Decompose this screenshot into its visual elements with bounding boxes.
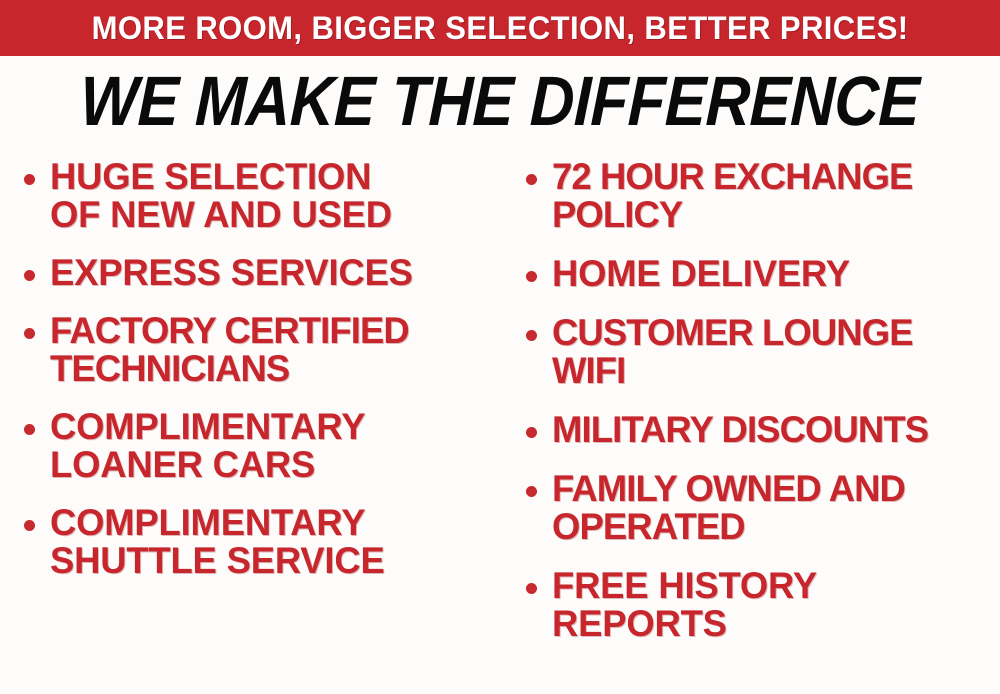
bullet-dot-icon xyxy=(24,520,35,531)
benefit-label: HUGE SELECTION OF NEW AND USED xyxy=(50,158,493,234)
bullet-dot-icon xyxy=(526,174,537,185)
top-banner: MORE ROOM, BIGGER SELECTION, BETTER PRIC… xyxy=(0,0,1000,56)
list-item: MILITARY DISCOUNTS xyxy=(518,411,1000,449)
bullet-dot-icon xyxy=(24,174,35,185)
bullet-dot-icon xyxy=(24,270,35,281)
bullet-dot-icon xyxy=(24,424,35,435)
benefits-column-right: 72 HOUR EXCHANGE POLICY HOME DELIVERY CU… xyxy=(518,158,1000,664)
benefit-label: FAMILY OWNED AND OPERATED xyxy=(552,470,1000,546)
bullet-dot-icon xyxy=(526,427,537,438)
bullet-dot-icon xyxy=(526,330,537,341)
list-item: HOME DELIVERY xyxy=(518,255,1000,293)
list-item: HUGE SELECTION OF NEW AND USED xyxy=(16,158,500,234)
benefit-label: EXPRESS SERVICES xyxy=(50,254,493,292)
page-title: WE MAKE THE DIFFERENCE xyxy=(79,64,920,138)
benefit-label: CUSTOMER LOUNGE WIFI xyxy=(552,314,1000,390)
benefit-label: FACTORY CERTIFIED TECHNICIANS xyxy=(50,312,493,388)
list-item: FAMILY OWNED AND OPERATED xyxy=(518,470,1000,546)
list-item: FACTORY CERTIFIED TECHNICIANS xyxy=(16,312,500,388)
list-item: COMPLIMENTARY LOANER CARS xyxy=(16,408,500,484)
bullet-dot-icon xyxy=(526,271,537,282)
benefits-list-left: HUGE SELECTION OF NEW AND USED EXPRESS S… xyxy=(16,158,500,580)
benefit-label: 72 HOUR EXCHANGE POLICY xyxy=(552,158,1000,234)
list-item: COMPLIMENTARY SHUTTLE SERVICE xyxy=(16,504,500,580)
bullet-dot-icon xyxy=(24,328,35,339)
headline-block: WE MAKE THE DIFFERENCE xyxy=(0,64,1000,138)
benefits-column-left: HUGE SELECTION OF NEW AND USED EXPRESS S… xyxy=(16,158,500,600)
list-item: FREE HISTORY REPORTS xyxy=(518,567,1000,643)
benefit-label: FREE HISTORY REPORTS xyxy=(552,567,1000,643)
list-item: CUSTOMER LOUNGE WIFI xyxy=(518,314,1000,390)
list-item: EXPRESS SERVICES xyxy=(16,254,500,292)
banner-headline: MORE ROOM, BIGGER SELECTION, BETTER PRIC… xyxy=(92,11,909,45)
list-item: 72 HOUR EXCHANGE POLICY xyxy=(518,158,1000,234)
benefits-list-right: 72 HOUR EXCHANGE POLICY HOME DELIVERY CU… xyxy=(518,158,1000,643)
benefit-label: COMPLIMENTARY LOANER CARS xyxy=(50,408,493,484)
benefit-label: COMPLIMENTARY SHUTTLE SERVICE xyxy=(50,504,493,580)
bullet-dot-icon xyxy=(526,486,537,497)
benefits-columns: HUGE SELECTION OF NEW AND USED EXPRESS S… xyxy=(0,158,1000,694)
benefit-label: HOME DELIVERY xyxy=(552,255,1000,293)
benefit-label: MILITARY DISCOUNTS xyxy=(552,411,1000,449)
promo-poster: MORE ROOM, BIGGER SELECTION, BETTER PRIC… xyxy=(0,0,1000,694)
bullet-dot-icon xyxy=(526,583,537,594)
